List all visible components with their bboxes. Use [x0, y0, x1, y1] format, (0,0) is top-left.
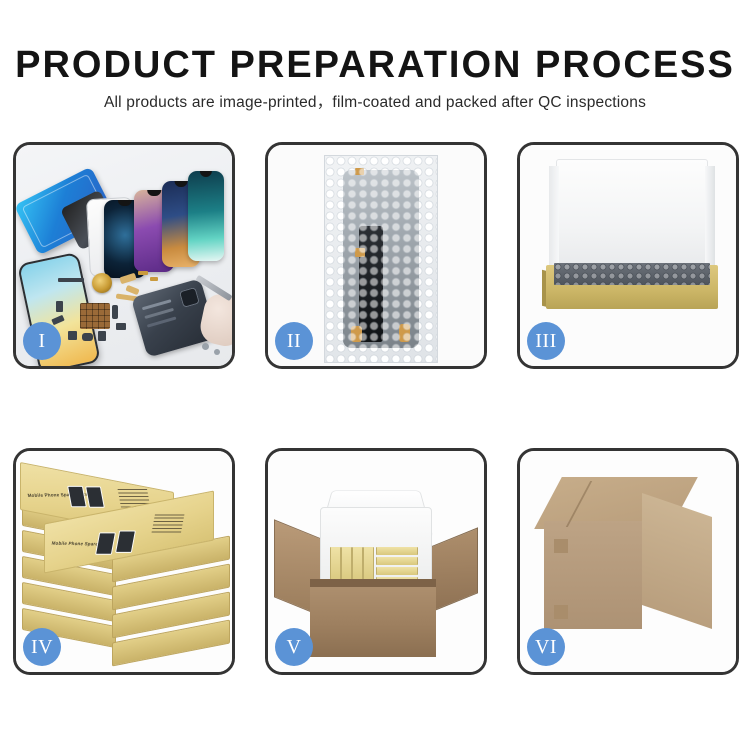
kraft-box-packed — [352, 547, 363, 583]
step-badge-4: IV — [23, 628, 61, 666]
component-chip — [112, 305, 118, 319]
box-label-screen-image — [67, 486, 87, 507]
kraft-box-packed — [341, 547, 352, 583]
component-chip — [82, 333, 93, 341]
step-badge-5: V — [275, 628, 313, 666]
step-frame: III — [517, 142, 739, 369]
carton-tape-tab — [554, 539, 568, 553]
step-frame: I — [13, 142, 235, 369]
component-chip — [116, 323, 126, 330]
phone-screen-teal — [188, 171, 224, 261]
page-title: PRODUCT PREPARATION PROCESS — [0, 46, 750, 84]
box-label-screen-image — [95, 532, 116, 554]
carton-tape-tab — [554, 605, 568, 619]
process-step-1[interactable]: I — [13, 142, 235, 369]
screw-part — [214, 349, 220, 355]
process-step-6[interactable]: VI — [517, 448, 739, 675]
kraft-box-packed — [376, 567, 418, 575]
kraft-box-packed — [330, 547, 341, 583]
component-chip — [56, 301, 63, 312]
step-badge-3: III — [527, 322, 565, 360]
carton-body — [310, 579, 436, 657]
component-strip — [58, 278, 84, 282]
process-step-4[interactable]: Mobile Phone Spare Parts Mobile Phone Sp… — [13, 448, 235, 675]
component-chip — [68, 331, 77, 340]
phone-notch-icon — [147, 190, 161, 196]
speaker-coil-part — [92, 273, 112, 293]
step-badge-2: II — [275, 322, 313, 360]
component-chip — [98, 331, 106, 341]
bubble-wrapped-contents — [554, 263, 710, 285]
phone-notch-icon — [118, 200, 132, 206]
step-badge-6: VI — [527, 628, 565, 666]
process-step-2[interactable]: II — [265, 142, 487, 369]
white-foam-sheet — [556, 159, 708, 273]
box-label-screen-image — [115, 530, 136, 552]
kraft-box-packed — [376, 547, 418, 555]
step-frame: II — [265, 142, 487, 369]
phone-notch-icon — [175, 181, 188, 187]
process-step-5[interactable]: V — [265, 448, 487, 675]
page-subtitle: All products are image-printed，film-coat… — [0, 90, 750, 112]
phone-notch-icon — [200, 171, 212, 177]
box-label-screen-image — [85, 486, 105, 507]
chip-array-part — [80, 303, 110, 329]
gold-contact-part — [150, 277, 158, 281]
screen-flex-cable — [359, 226, 383, 342]
tape-tab — [399, 324, 410, 342]
screw-part — [202, 343, 209, 350]
tape-tab — [355, 168, 364, 175]
step-frame: VI — [517, 448, 739, 675]
gold-contact-part — [138, 271, 148, 275]
process-step-3[interactable]: III — [517, 142, 739, 369]
tape-tab — [355, 248, 365, 257]
box-label-spec-lines — [152, 514, 185, 532]
carton-side-face — [642, 493, 712, 629]
process-step-grid: I II — [13, 142, 740, 677]
step-frame: Mobile Phone Spare Parts Mobile Phone Sp… — [13, 448, 235, 675]
bubble-wrap-bag — [324, 155, 438, 363]
step-badge-1: I — [23, 322, 61, 360]
step-frame: V — [265, 448, 487, 675]
tape-tab — [351, 326, 362, 342]
kraft-box-packed — [376, 557, 418, 565]
infographic-page: PRODUCT PREPARATION PROCESS All products… — [0, 0, 750, 750]
kraft-box-packed — [363, 547, 374, 583]
